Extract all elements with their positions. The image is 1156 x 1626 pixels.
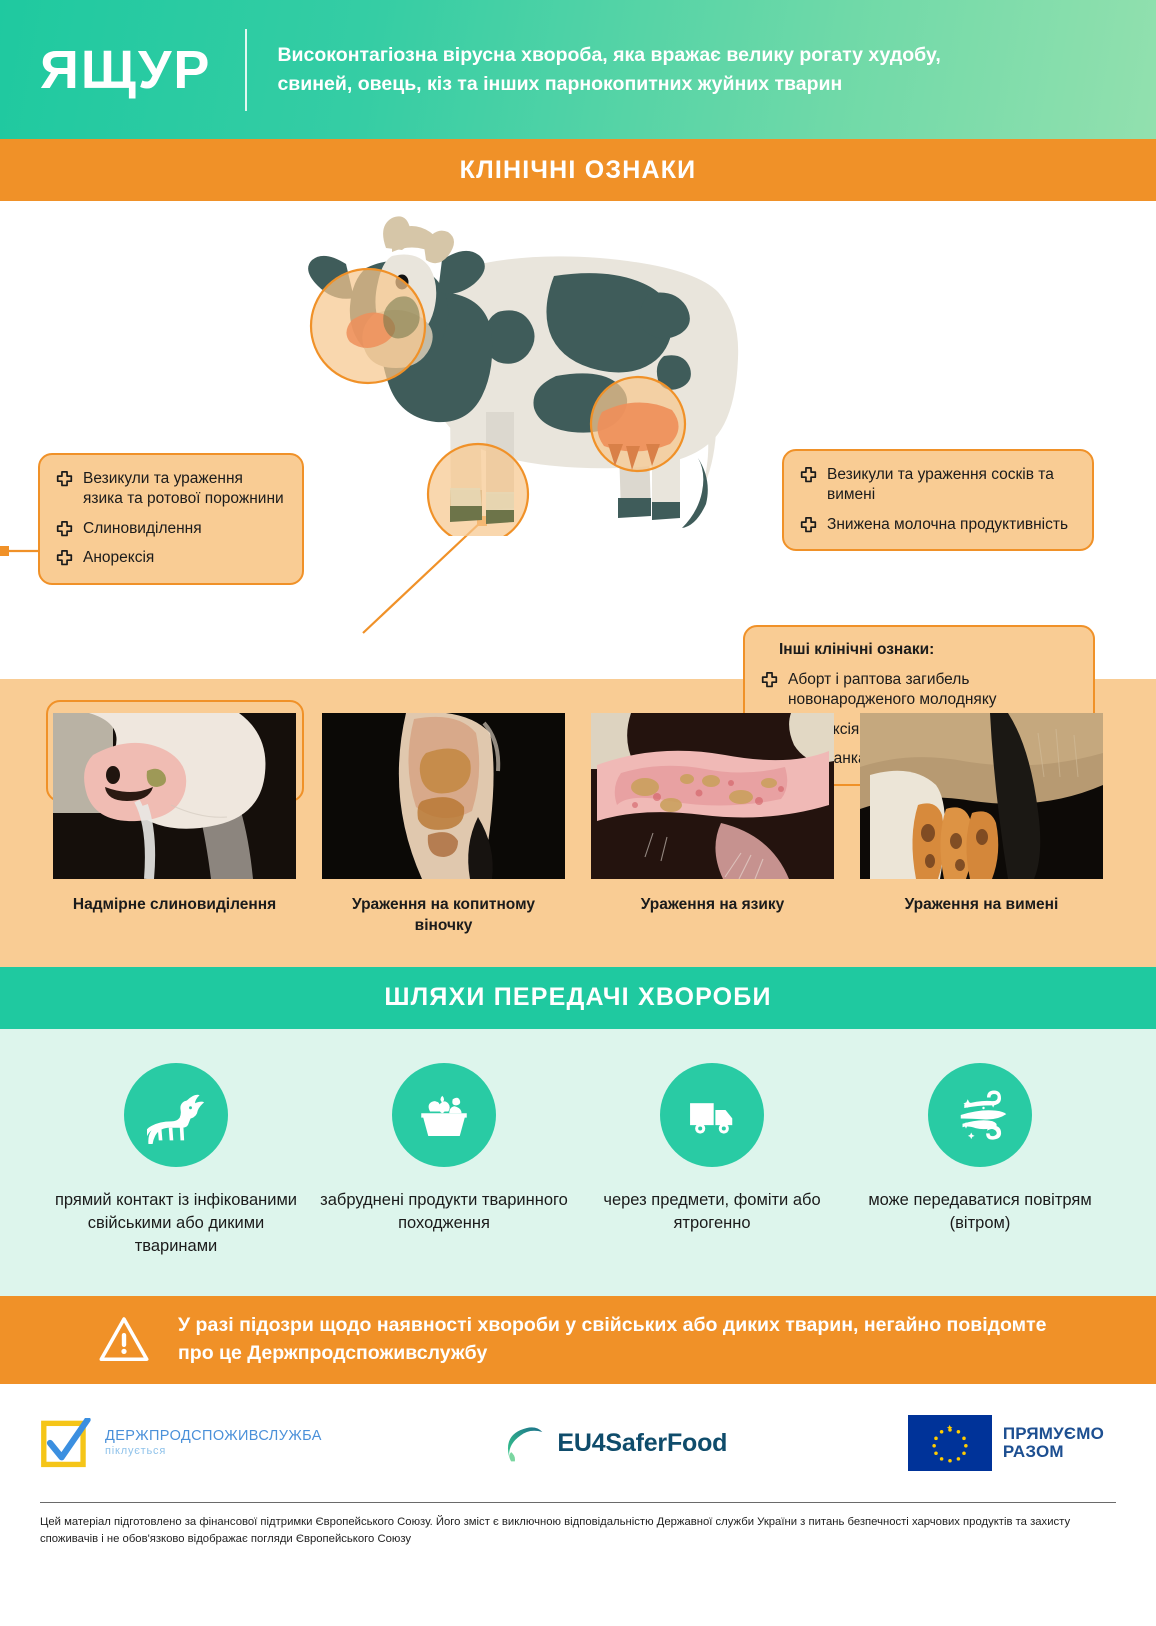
footer: Цей матеріал підготовлено за фінансової … (0, 1502, 1156, 1548)
transmission-label: може передаватися повітрям (вітром) (851, 1189, 1109, 1235)
list-item-label: Анорексія (83, 548, 154, 568)
transmission-icon-circle (928, 1063, 1032, 1167)
logo-row: ДЕРЖПРОДСПОЖИВСЛУЖБА піклується EU4Safer… (0, 1384, 1156, 1502)
dpss-checkmark-icon (40, 1418, 94, 1468)
cross-bullet-icon (56, 521, 73, 538)
photo-caption: Ураження на язику (641, 895, 785, 916)
list-item-label: Слиновиділення (83, 519, 202, 539)
pryamuemo-line2: РАЗОМ (1003, 1443, 1104, 1461)
clinical-signs-band-title: КЛІНІЧНІ ОЗНАКИ (460, 156, 697, 185)
logo-pryamuemo-razom: ПРЯМУЄМО РАЗОМ (908, 1415, 1104, 1471)
transmission-label: через предмети, фоміти або ятрогенно (583, 1189, 841, 1235)
pryamuemo-line1: ПРЯМУЄМО (1003, 1425, 1104, 1443)
logo-derzhprodspozhyvsluzhba: ДЕРЖПРОДСПОЖИВСЛУЖБА піклується (40, 1418, 322, 1468)
cow-illustration (300, 206, 780, 536)
footer-divider (40, 1502, 1116, 1503)
list-item: Аборт і раптова загибель новонародженого… (761, 670, 1075, 711)
list-item: Слиновиділення (56, 519, 284, 539)
transmission-band: ШЛЯХИ ПЕРЕДАЧІ ХВОРОБИ (0, 967, 1156, 1029)
transmission-icon-circle (660, 1063, 764, 1167)
clinical-signs-band: КЛІНІЧНІ ОЗНАКИ (0, 139, 1156, 201)
header-divider (245, 29, 247, 111)
list-item: Везикули та ураження язика та ротової по… (56, 469, 284, 510)
transmission-section: прямий контакт із інфікованими свійським… (0, 1029, 1156, 1296)
cross-bullet-icon (56, 471, 73, 488)
list-item-label: Везикули та ураження сосків та вимені (827, 465, 1074, 506)
photo-caption: Надмірне слиновиділення (73, 895, 276, 916)
truck-icon (685, 1088, 739, 1142)
clinical-box-udder: Везикули та ураження сосків та вимені Зн… (782, 449, 1094, 551)
food-basket-icon (416, 1087, 472, 1143)
dpss-logo-main-text: ДЕРЖПРОДСПОЖИВСЛУЖБА (105, 1429, 322, 1444)
photo-caption: Ураження на вимені (905, 895, 1059, 916)
transmission-label: забруднені продукти тваринного походженн… (315, 1189, 573, 1235)
photo-udder (860, 713, 1103, 879)
warning-banner: У разі підозри щодо наявності хвороби у … (0, 1296, 1156, 1384)
photo-cell-udder: Ураження на вимені (860, 713, 1103, 937)
list-item-label: Везикули та ураження язика та ротової по… (83, 469, 284, 510)
header-subtitle: Високонтагіозна вірусна хвороба, яка вра… (277, 41, 977, 99)
photo-coronary-band (322, 713, 565, 879)
list-item-label: Знижена молочна продуктивність (827, 515, 1068, 535)
clinical-box-other-heading: Інші клінічні ознаки: (779, 641, 1075, 659)
cross-bullet-icon (56, 550, 73, 567)
transmission-item-direct-contact: прямий контакт із інфікованими свійським… (47, 1063, 305, 1258)
transmission-label: прямий контакт із інфікованими свійським… (47, 1189, 305, 1258)
clinical-photo-strip: Надмірне слиновиділення Ураження на копи… (0, 679, 1156, 967)
cross-bullet-icon (800, 517, 817, 534)
transmission-item-airborne: може передаватися повітрям (вітром) (851, 1063, 1109, 1258)
photo-cell-salivation: Надмірне слиновиділення (53, 713, 296, 937)
photo-caption: Ураження на копитному віночку (322, 895, 565, 937)
transmission-icon-circle (392, 1063, 496, 1167)
logo-eu4saferfood: EU4SaferFood (502, 1421, 727, 1465)
dpss-logo-sub-text: піклується (105, 1446, 322, 1457)
eu-flag-icon (908, 1415, 992, 1471)
transmission-icon-circle (124, 1063, 228, 1167)
footer-disclaimer: Цей матеріал підготовлено за фінансової … (40, 1514, 1116, 1548)
warning-text: У разі підозри щодо наявності хвороби у … (178, 1312, 1058, 1367)
photo-salivation (53, 713, 296, 879)
page-title: ЯЩУР (40, 43, 245, 97)
transmission-item-fomites: через предмети, фоміти або ятрогенно (583, 1063, 841, 1258)
clinical-box-mouth: Везикули та ураження язика та ротової по… (38, 453, 304, 585)
photo-cell-tongue: Ураження на язику (591, 713, 834, 937)
photo-tongue (591, 713, 834, 879)
header-banner: ЯЩУР Високонтагіозна вірусна хвороба, як… (0, 0, 1156, 139)
list-item: Знижена молочна продуктивність (800, 515, 1074, 535)
clinical-signs-diagram: Везикули та ураження язика та ротової по… (0, 201, 1156, 679)
eu4saferfood-swoosh-icon (502, 1421, 546, 1465)
transmission-band-title: ШЛЯХИ ПЕРЕДАЧІ ХВОРОБИ (384, 983, 771, 1012)
transmission-item-contaminated-products: забруднені продукти тваринного походженн… (315, 1063, 573, 1258)
goat-icon (147, 1086, 205, 1144)
cross-bullet-icon (800, 467, 817, 484)
list-item-label: Аборт і раптова загибель новонародженого… (788, 670, 1075, 711)
list-item: Анорексія (56, 548, 284, 568)
eu4saferfood-logo-text: EU4SaferFood (557, 1429, 727, 1458)
wind-icon (952, 1087, 1008, 1143)
cross-bullet-icon (761, 672, 778, 689)
list-item: Везикули та ураження сосків та вимені (800, 465, 1074, 506)
photo-cell-coronary-band: Ураження на копитному віночку (322, 713, 565, 937)
warning-triangle-icon (96, 1312, 152, 1368)
